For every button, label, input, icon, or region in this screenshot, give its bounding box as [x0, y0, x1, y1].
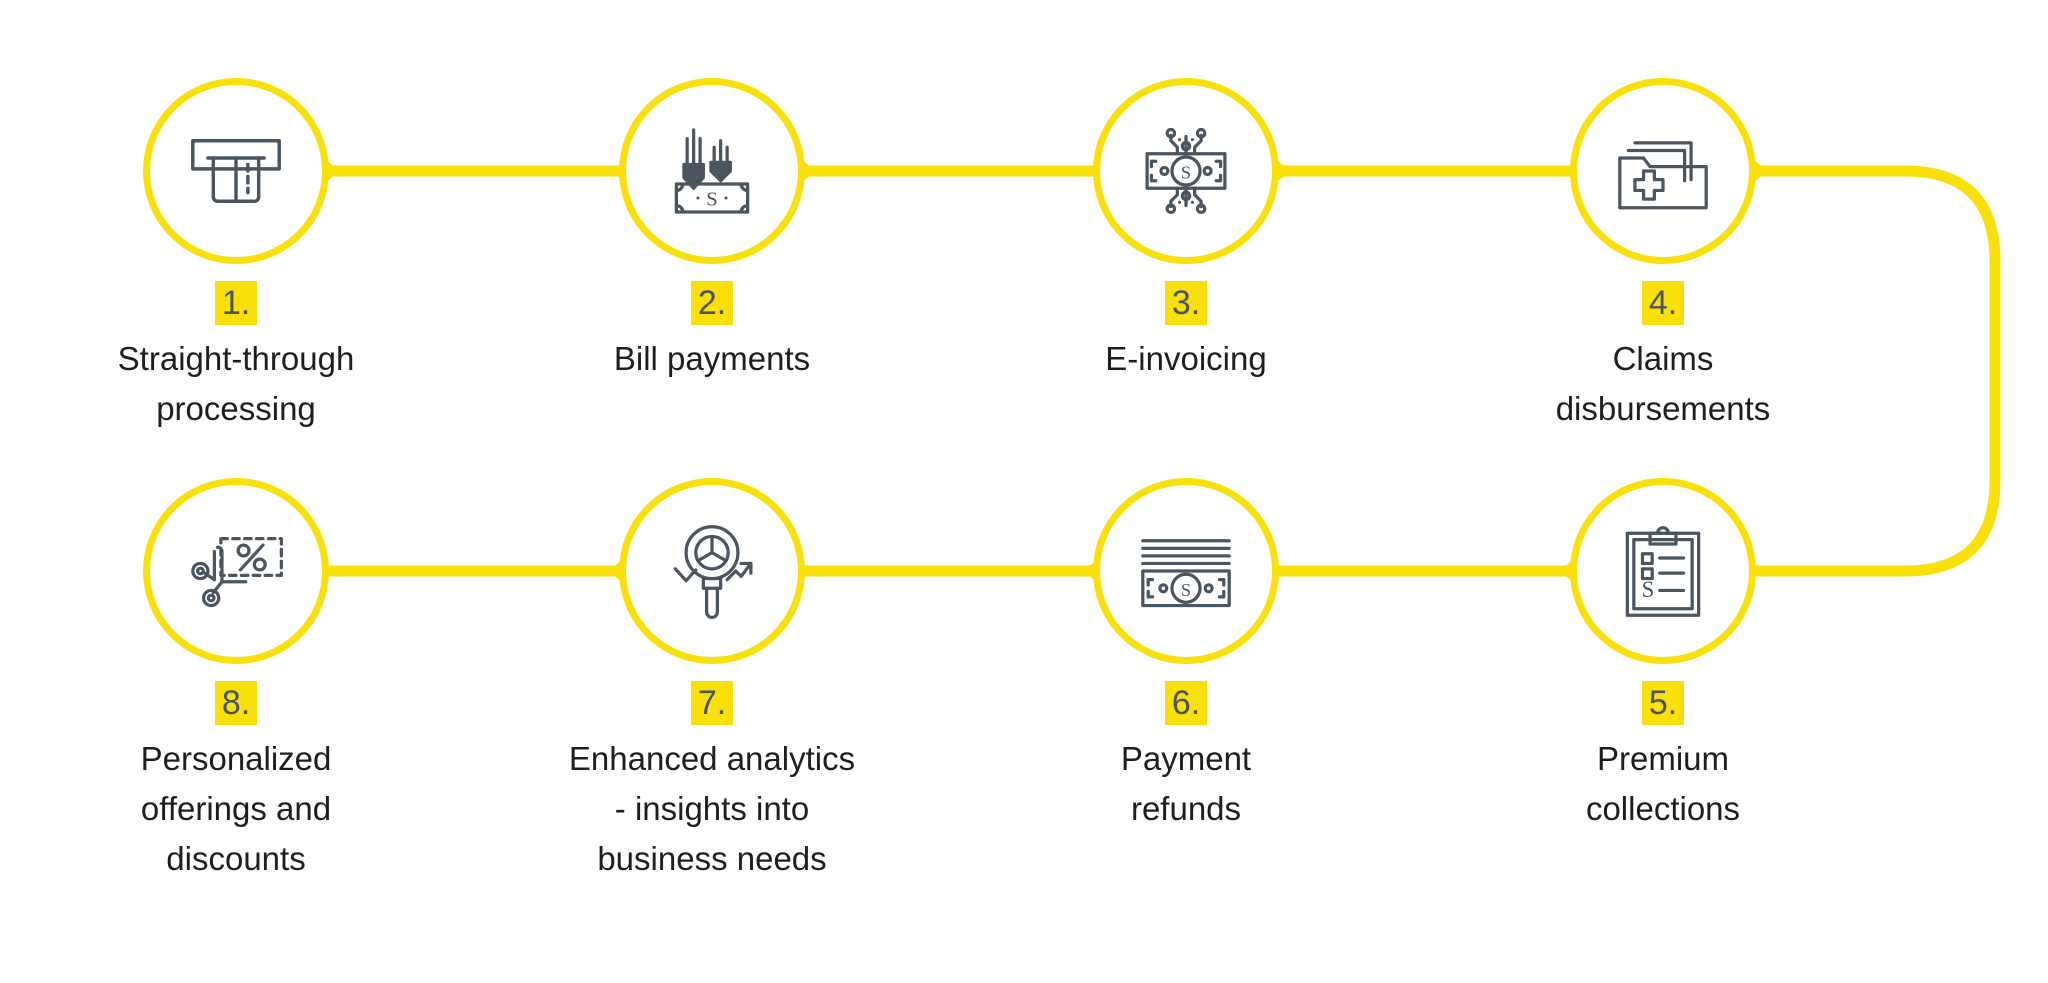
- step-7-number: 7.: [691, 681, 733, 725]
- arrows-into-banknote-icon: S: [658, 117, 766, 225]
- card-reader-icon: [182, 117, 290, 225]
- svg-text:S: S: [1181, 580, 1191, 600]
- step-node-1[interactable]: 1. Straight-through processing: [86, 78, 386, 434]
- digital-banknote-circuit-icon: S: [1132, 117, 1240, 225]
- svg-text:S: S: [706, 189, 717, 211]
- step-1-number: 1.: [215, 281, 257, 325]
- step-node-8[interactable]: 8. Personalized offerings and discounts: [86, 478, 386, 884]
- step-8-badge-wrap: 8.: [86, 681, 386, 725]
- step-4-circle: [1570, 78, 1756, 264]
- step-8-label: Personalized offerings and discounts: [86, 734, 386, 884]
- step-8-circle: [143, 478, 329, 664]
- step-3-label: E-invoicing: [1036, 334, 1336, 384]
- step-node-7[interactable]: 7. Enhanced analytics - insights into bu…: [562, 478, 862, 884]
- step-5-badge-wrap: 5.: [1513, 681, 1813, 725]
- magnifier-pie-chart-arrow-icon: [658, 517, 766, 625]
- infographic-canvas: 1. Straight-through processing: [0, 0, 2048, 983]
- step-2-number: 2.: [691, 281, 733, 325]
- step-2-badge-wrap: 2.: [562, 281, 862, 325]
- step-6-number: 6.: [1165, 681, 1207, 725]
- step-2-label: Bill payments: [562, 334, 862, 384]
- banknote-stack-icon: S: [1132, 517, 1240, 625]
- step-8-number: 8.: [215, 681, 257, 725]
- step-2-circle: S: [619, 78, 805, 264]
- step-node-6[interactable]: S 6. Payment refunds: [1036, 478, 1336, 834]
- step-7-label: Enhanced analytics - insights into busin…: [562, 734, 862, 884]
- step-node-3[interactable]: S: [1036, 78, 1336, 384]
- medical-folder-icon: [1609, 117, 1717, 225]
- svg-text:S: S: [1181, 163, 1191, 183]
- step-5-number: 5.: [1642, 681, 1684, 725]
- step-3-circle: S: [1093, 78, 1279, 264]
- clipboard-checklist-dollar-icon: S: [1609, 517, 1717, 625]
- svg-text:S: S: [1642, 577, 1655, 602]
- step-node-5[interactable]: S 5. Premium collections: [1513, 478, 1813, 834]
- step-4-badge-wrap: 4.: [1513, 281, 1813, 325]
- step-4-label: Claims disbursements: [1513, 334, 1813, 434]
- step-3-badge-wrap: 3.: [1036, 281, 1336, 325]
- step-1-badge-wrap: 1.: [86, 281, 386, 325]
- step-5-label: Premium collections: [1513, 734, 1813, 834]
- step-node-4[interactable]: 4. Claims disbursements: [1513, 78, 1813, 434]
- step-1-circle: [143, 78, 329, 264]
- step-6-badge-wrap: 6.: [1036, 681, 1336, 725]
- scissors-coupon-percent-icon: [182, 517, 290, 625]
- step-4-number: 4.: [1642, 281, 1684, 325]
- step-6-label: Payment refunds: [1036, 734, 1336, 834]
- step-node-2[interactable]: S 2. Bill payments: [562, 78, 862, 384]
- step-6-circle: S: [1093, 478, 1279, 664]
- step-1-label: Straight-through processing: [86, 334, 386, 434]
- step-5-circle: S: [1570, 478, 1756, 664]
- step-3-number: 3.: [1165, 281, 1207, 325]
- step-7-badge-wrap: 7.: [562, 681, 862, 725]
- step-7-circle: [619, 478, 805, 664]
